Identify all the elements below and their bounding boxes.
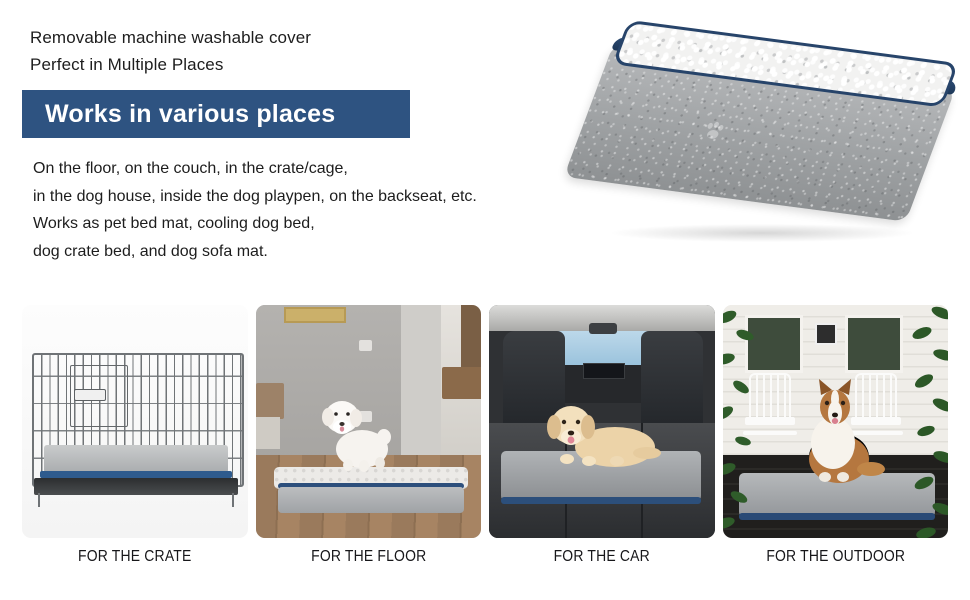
mat-side-panel xyxy=(278,487,464,513)
caption-floor: FOR THE FLOOR xyxy=(267,548,470,566)
section-headline-text: Works in various places xyxy=(22,100,335,129)
body-copy: On the floor, on the couch, in the crate… xyxy=(33,155,573,265)
body-line-2: in the dog house, inside the dog playpen… xyxy=(33,183,573,211)
use-case-tile-crate[interactable] xyxy=(22,305,248,538)
section-headline-banner: Works in various places xyxy=(22,90,410,138)
crate-leg xyxy=(38,493,40,507)
use-case-tile-floor[interactable] xyxy=(256,305,482,538)
hero-stage xyxy=(560,10,960,270)
paw-print-icon xyxy=(700,120,729,142)
foliage-left xyxy=(723,305,767,538)
caption-car: FOR THE CAR xyxy=(500,548,703,566)
crate-leg xyxy=(232,493,234,507)
mat-in-crate xyxy=(44,445,228,473)
living-room-scene xyxy=(256,305,482,538)
body-line-4: dog crate bed, and dog sofa mat. xyxy=(33,238,573,266)
poodle-dog xyxy=(318,393,404,473)
caption-crate: FOR THE CRATE xyxy=(33,548,236,566)
hero-dog-bed xyxy=(556,19,965,242)
foliage-right xyxy=(898,305,948,538)
car-interior-scene xyxy=(489,305,715,538)
mat-blue-trim xyxy=(40,471,232,478)
wall-picture-frame xyxy=(284,307,346,323)
gallery-captions: FOR THE CRATE FOR THE FLOOR FOR THE CAR … xyxy=(22,548,948,566)
use-case-gallery xyxy=(22,305,948,538)
rearview-mirror xyxy=(589,323,617,334)
intro-copy: Removable machine washable cover Perfect… xyxy=(30,24,550,78)
crate-tray xyxy=(34,478,238,495)
wood-cabinet-right xyxy=(442,367,482,399)
hanging-sign xyxy=(815,323,837,345)
porch-window-right xyxy=(845,315,903,373)
room-wall-secondary xyxy=(401,305,441,457)
product-infographic: Removable machine washable cover Perfect… xyxy=(0,0,970,600)
side-table xyxy=(256,417,280,449)
golden-retriever-dog xyxy=(541,391,663,471)
collie-dog xyxy=(785,377,889,485)
body-line-1: On the floor, on the couch, in the crate… xyxy=(33,155,573,183)
caption-outdoor: FOR THE OUTDOOR xyxy=(734,548,937,566)
intro-line-2: Perfect in Multiple Places xyxy=(30,51,550,78)
mat-blue-trim xyxy=(501,497,701,504)
use-case-tile-car[interactable] xyxy=(489,305,715,538)
crate-latch xyxy=(74,389,106,401)
wall-switch xyxy=(359,340,372,351)
body-line-3: Works as pet bed mat, cooling dog bed, xyxy=(33,210,573,238)
porch-scene xyxy=(723,305,949,538)
hero-product-image xyxy=(560,10,960,270)
infotainment-screen xyxy=(583,363,625,379)
use-case-tile-outdoor[interactable] xyxy=(723,305,949,538)
crate-scene xyxy=(22,305,248,538)
wood-cabinet-left xyxy=(256,383,284,419)
intro-line-1: Removable machine washable cover xyxy=(30,24,550,51)
